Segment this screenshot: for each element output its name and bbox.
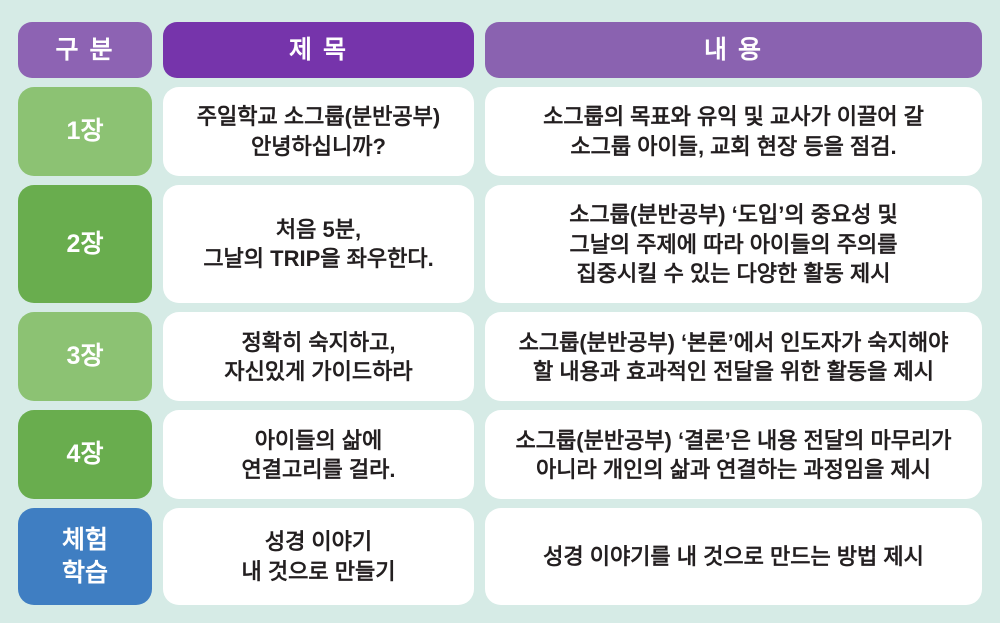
row-description-cell: 성경 이야기를 내 것으로 만드는 방법 제시 (485, 508, 982, 605)
column-header-category: 구 분 (18, 22, 152, 78)
row-title-cell: 주일학교 소그룹(분반공부) 안녕하십니까? (163, 87, 474, 176)
row-description-cell: 소그룹(분반공부) ‘도입’의 중요성 및 그날의 주제에 따라 아이들의 주의… (485, 185, 982, 303)
table-row: 4장 아이들의 삶에 연결고리를 걸라. 소그룹(분반공부) ‘결론’은 내용 … (18, 410, 982, 499)
row-description-cell: 소그룹(분반공부) ‘본론’에서 인도자가 숙지해야 할 내용과 효과적인 전달… (485, 312, 982, 401)
row-category-badge: 3장 (18, 312, 152, 401)
row-title-cell: 아이들의 삶에 연결고리를 걸라. (163, 410, 474, 499)
row-category-badge: 4장 (18, 410, 152, 499)
row-category-badge: 체험 학습 (18, 508, 152, 605)
row-title-cell: 성경 이야기 내 것으로 만들기 (163, 508, 474, 605)
row-category-badge: 1장 (18, 87, 152, 176)
row-description-cell: 소그룹의 목표와 유익 및 교사가 이끌어 갈 소그룹 아이들, 교회 현장 등… (485, 87, 982, 176)
chapter-overview-table: 구 분 제 목 내 용 1장 주일학교 소그룹(분반공부) 안녕하십니까? 소그… (0, 0, 1000, 623)
table-row: 1장 주일학교 소그룹(분반공부) 안녕하십니까? 소그룹의 목표와 유익 및 … (18, 87, 982, 176)
table-row: 체험 학습 성경 이야기 내 것으로 만들기 성경 이야기를 내 것으로 만드는… (18, 508, 982, 605)
row-category-badge: 2장 (18, 185, 152, 303)
row-title-cell: 처음 5분, 그날의 TRIP을 좌우한다. (163, 185, 474, 303)
column-header-description: 내 용 (485, 22, 982, 78)
table-row: 3장 정확히 숙지하고, 자신있게 가이드하라 소그룹(분반공부) ‘본론’에서… (18, 312, 982, 401)
row-title-cell: 정확히 숙지하고, 자신있게 가이드하라 (163, 312, 474, 401)
table-header-row: 구 분 제 목 내 용 (18, 22, 982, 78)
column-header-title: 제 목 (163, 22, 474, 78)
row-description-cell: 소그룹(분반공부) ‘결론’은 내용 전달의 마무리가 아니라 개인의 삶과 연… (485, 410, 982, 499)
table-row: 2장 처음 5분, 그날의 TRIP을 좌우한다. 소그룹(분반공부) ‘도입’… (18, 185, 982, 303)
